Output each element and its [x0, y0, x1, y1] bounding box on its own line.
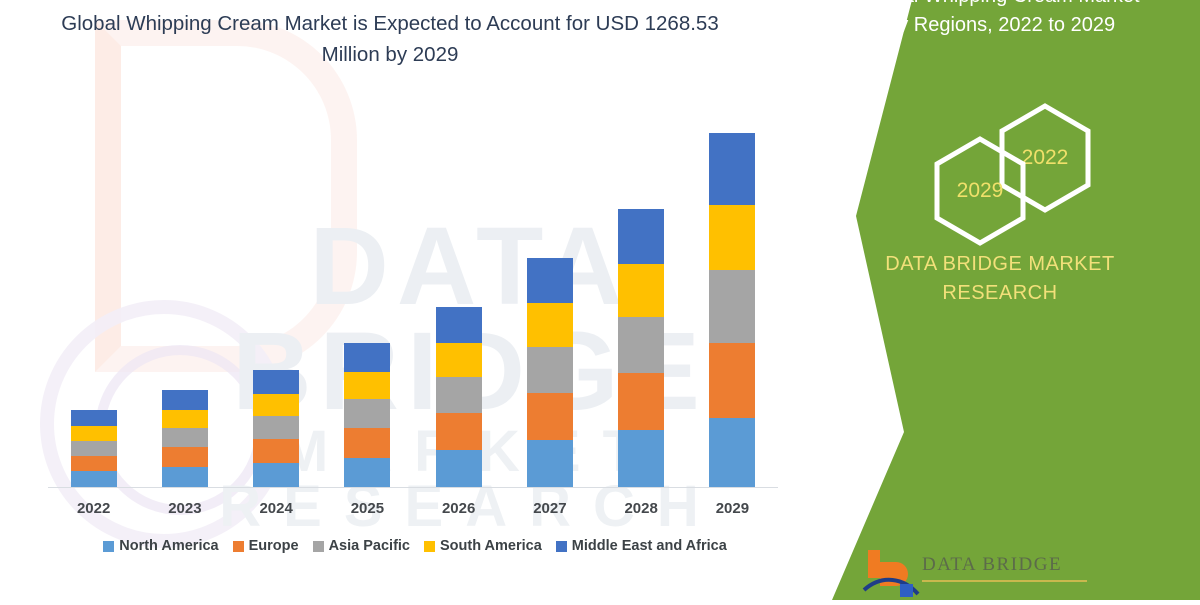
bar-segment — [162, 428, 208, 447]
bar-segment — [71, 410, 117, 426]
bar-segment — [709, 270, 755, 343]
bar-segment — [162, 447, 208, 467]
bar-column — [162, 390, 208, 488]
bar-segment — [344, 458, 390, 488]
legend-swatch — [556, 541, 567, 552]
bar-segment — [436, 307, 482, 343]
bar-segment — [527, 258, 573, 303]
bar-segment — [71, 471, 117, 488]
bar-segment — [253, 463, 299, 488]
logo-text: DATA BRIDGE — [922, 554, 1062, 576]
bar-column — [527, 258, 573, 488]
bar-segment — [709, 343, 755, 418]
x-axis-tick: 2027 — [505, 500, 595, 517]
legend-swatch — [103, 541, 114, 552]
bar-segment — [344, 428, 390, 458]
brand-line-1: DATA BRIDGE MARKET — [800, 250, 1200, 279]
bar-column — [709, 133, 755, 488]
logo-underline — [922, 580, 1087, 582]
bar-segment — [618, 430, 664, 488]
bar-column — [436, 307, 482, 488]
legend-item[interactable]: Europe — [233, 538, 299, 554]
data-bridge-logo: DATA BRIDGE — [860, 544, 1095, 600]
brand-line-2: RESEARCH — [800, 279, 1200, 308]
legend-item[interactable]: Middle East and Africa — [556, 538, 727, 554]
panel-heading-line-2: By Regions, 2022 to 2029 — [800, 11, 1200, 40]
logo-b-icon — [860, 544, 920, 600]
legend-label: Middle East and Africa — [572, 538, 727, 554]
x-axis-line — [48, 487, 778, 488]
legend-label: North America — [119, 538, 218, 554]
x-axis-tick: 2025 — [322, 500, 412, 517]
legend-item[interactable]: North America — [103, 538, 218, 554]
bar-segment — [253, 394, 299, 416]
bar-segment — [71, 441, 117, 456]
bar-segment — [527, 347, 573, 393]
x-axis-tick: 2022 — [49, 500, 139, 517]
chart-title: Global Whipping Cream Market is Expected… — [40, 8, 740, 70]
bar-segment — [527, 303, 573, 347]
x-axis-tick: 2028 — [596, 500, 686, 517]
bar-segment — [436, 377, 482, 413]
bar-segment — [618, 264, 664, 317]
bar-segment — [162, 390, 208, 410]
x-axis-tick: 2029 — [687, 500, 777, 517]
bar-segment — [253, 416, 299, 439]
legend-item[interactable]: South America — [424, 538, 542, 554]
bar-segment — [709, 418, 755, 488]
legend-swatch — [313, 541, 324, 552]
bar-column — [253, 370, 299, 488]
bar-segment — [162, 410, 208, 428]
bar-segment — [618, 209, 664, 264]
bar-segment — [344, 343, 390, 372]
bar-segment — [71, 456, 117, 471]
bar-segment — [618, 317, 664, 373]
legend-item[interactable]: Asia Pacific — [313, 538, 410, 554]
bar-segment — [618, 373, 664, 430]
bar-segment — [709, 205, 755, 270]
legend-swatch — [233, 541, 244, 552]
plot-area — [48, 95, 778, 488]
bar-segment — [527, 393, 573, 440]
legend-label: Europe — [249, 538, 299, 554]
bar-segment — [436, 343, 482, 377]
bar-segment — [436, 413, 482, 450]
legend-label: South America — [440, 538, 542, 554]
x-axis-tick: 2024 — [231, 500, 321, 517]
stacked-bar-chart — [0, 95, 800, 495]
legend-swatch — [424, 541, 435, 552]
brand-name: DATA BRIDGE MARKET RESEARCH — [800, 250, 1200, 308]
bar-segment — [709, 133, 755, 205]
legend-label: Asia Pacific — [329, 538, 410, 554]
bar-segment — [344, 399, 390, 428]
panel-heading-line-1: Global Whipping Cream Market — [800, 0, 1200, 11]
bar-column — [71, 410, 117, 488]
bar-segment — [162, 467, 208, 488]
hexagon-badge-start-year: 2029 — [930, 135, 1030, 247]
bar-segment — [71, 426, 117, 441]
bar-segment — [253, 370, 299, 394]
hexagon-badge-start-year-label: 2029 — [930, 135, 1030, 247]
bar-segment — [344, 372, 390, 399]
bar-segment — [253, 439, 299, 463]
bar-column — [344, 343, 390, 488]
x-axis-tick: 2026 — [414, 500, 504, 517]
chart-legend: North AmericaEuropeAsia PacificSouth Ame… — [30, 538, 800, 554]
bar-segment — [527, 440, 573, 488]
bar-column — [618, 209, 664, 488]
x-axis-tick: 2023 — [140, 500, 230, 517]
bar-segment — [436, 450, 482, 488]
panel-heading: Global Whipping Cream Market By Regions,… — [800, 0, 1200, 40]
